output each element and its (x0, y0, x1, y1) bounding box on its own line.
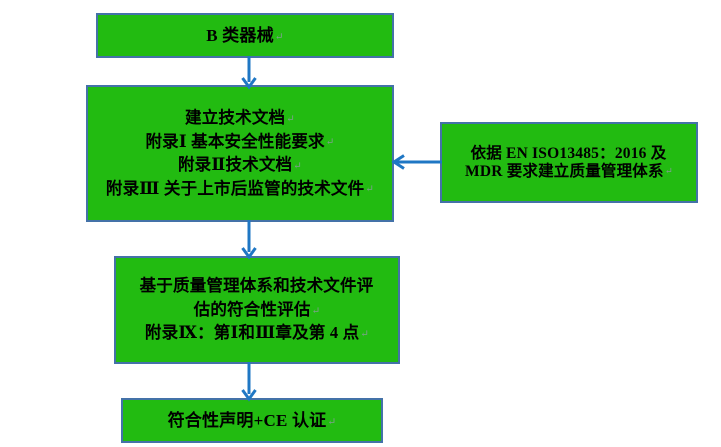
flowchart-canvas: B 类器械↵ 建立技术文档↵ 附录Ⅰ 基本安全性能要求↵ 附录Ⅱ技术文档↵ 附录… (0, 0, 721, 447)
node-conformity-assessment-line-1: 基于质量管理体系和技术文件评 (140, 278, 375, 295)
connector-conformity-to-declaration (240, 362, 258, 400)
node-category[interactable]: B 类器械↵ (96, 13, 394, 58)
connector-qms-reference-to-technical-documentation (392, 153, 442, 171)
return-mark-icon: ↵ (364, 184, 374, 195)
node-category-line-1: B 类器械↵ (206, 27, 284, 44)
return-mark-icon (373, 282, 374, 293)
node-conformity-assessment[interactable]: 基于质量管理体系和技术文件评 估的符合性评估↵ 附录Ⅸ：第Ⅰ和Ⅲ章及第 4 点↵ (114, 256, 400, 364)
node-qms-reference-line-2: MDR 要求建立质量管理体系↵ (465, 164, 673, 180)
node-declaration-of-conformity[interactable]: 符合性声明+CE 认证↵ (121, 398, 383, 443)
node-declaration-of-conformity-line-1: 符合性声明+CE 认证↵ (168, 412, 337, 429)
return-mark-icon: ↵ (292, 161, 302, 172)
node-conformity-assessment-line-2: 估的符合性评估↵ (194, 302, 321, 319)
return-mark-icon: ↵ (325, 137, 335, 148)
node-technical-documentation-line-3: 附录Ⅱ技术文档↵ (178, 157, 302, 174)
node-technical-documentation[interactable]: 建立技术文档↵ 附录Ⅰ 基本安全性能要求↵ 附录Ⅱ技术文档↵ 附录Ⅲ 关于上市后… (86, 85, 394, 222)
connector-category-to-technical-documentation (240, 56, 258, 88)
return-mark-icon: ↵ (311, 306, 321, 317)
return-mark-icon: ↵ (664, 166, 673, 177)
node-technical-documentation-line-2: 附录Ⅰ 基本安全性能要求↵ (145, 134, 334, 151)
return-mark-icon: ↵ (359, 329, 369, 340)
node-qms-reference[interactable]: 依据 EN ISO13485：2016 及 MDR 要求建立质量管理体系↵ (440, 122, 698, 203)
return-mark-icon: ↵ (274, 32, 284, 43)
return-mark-icon (666, 149, 667, 160)
node-technical-documentation-line-1: 建立技术文档↵ (185, 110, 295, 127)
connector-technical-documentation-to-conformity (240, 220, 258, 258)
return-mark-icon: ↵ (285, 114, 295, 125)
node-conformity-assessment-line-3: 附录Ⅸ：第Ⅰ和Ⅲ章及第 4 点↵ (145, 325, 369, 342)
node-technical-documentation-line-4: 附录Ⅲ 关于上市后监管的技术文件↵ (106, 181, 374, 198)
return-mark-icon: ↵ (326, 417, 336, 428)
node-qms-reference-line-1: 依据 EN ISO13485：2016 及 (471, 146, 668, 162)
